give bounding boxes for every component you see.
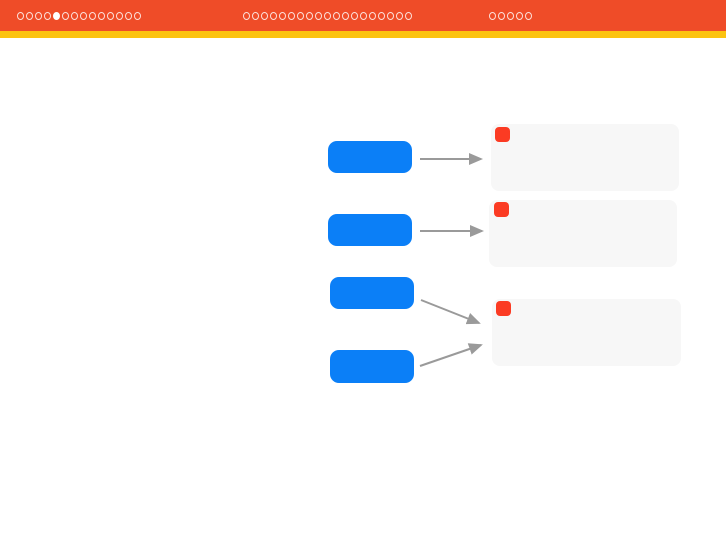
redacted-text-glyph xyxy=(243,12,250,20)
redacted-text-glyph xyxy=(351,12,358,20)
redacted-text-glyph xyxy=(62,12,69,20)
redacted-text-glyph xyxy=(387,12,394,20)
redacted-text-glyph xyxy=(396,12,403,20)
redacted-text-glyph xyxy=(98,12,105,20)
redacted-text-glyph xyxy=(252,12,259,20)
redacted-text-glyph xyxy=(333,12,340,20)
redacted-text-glyph xyxy=(35,12,42,20)
redacted-text-glyph xyxy=(107,12,114,20)
redacted-text-glyph xyxy=(116,12,123,20)
redacted-text-glyph xyxy=(80,12,87,20)
panel-badge-2[interactable] xyxy=(494,202,509,217)
redacted-text-glyph xyxy=(360,12,367,20)
redacted-text-glyph xyxy=(270,12,277,20)
redacted-text-glyph xyxy=(525,12,532,20)
detail-panel-1[interactable] xyxy=(491,124,679,191)
redacted-text-glyph xyxy=(53,12,60,20)
node-button-1[interactable] xyxy=(328,141,412,173)
redacted-text-glyph xyxy=(342,12,349,20)
redacted-text-glyph xyxy=(89,12,96,20)
redacted-text-glyph xyxy=(369,12,376,20)
redacted-text-glyph xyxy=(17,12,24,20)
redacted-text-glyph xyxy=(134,12,141,20)
redacted-text-glyph xyxy=(405,12,412,20)
detail-panel-3[interactable] xyxy=(492,299,681,366)
panel-badge-3[interactable] xyxy=(496,301,511,316)
header-action-group-right[interactable] xyxy=(489,0,532,31)
connector-arrow-4 xyxy=(420,345,481,366)
redacted-text-glyph xyxy=(324,12,331,20)
detail-panel-2[interactable] xyxy=(489,200,677,267)
redacted-text-glyph xyxy=(71,12,78,20)
node-button-4[interactable] xyxy=(330,350,414,383)
redacted-text-glyph xyxy=(279,12,286,20)
redacted-text-glyph xyxy=(26,12,33,20)
redacted-text-glyph xyxy=(378,12,385,20)
redacted-text-glyph xyxy=(498,12,505,20)
redacted-text-glyph xyxy=(288,12,295,20)
redacted-text-glyph xyxy=(315,12,322,20)
diagram-canvas xyxy=(0,38,726,544)
node-button-3[interactable] xyxy=(330,277,414,309)
redacted-text-glyph xyxy=(125,12,132,20)
redacted-text-glyph xyxy=(516,12,523,20)
redacted-text-glyph xyxy=(489,12,496,20)
redacted-text-glyph xyxy=(261,12,268,20)
redacted-text-glyph xyxy=(507,12,514,20)
header-title-group-left[interactable] xyxy=(17,0,141,31)
redacted-text-glyph xyxy=(44,12,51,20)
panel-badge-1[interactable] xyxy=(495,127,510,142)
header-nav-group-center[interactable] xyxy=(243,0,412,31)
node-button-2[interactable] xyxy=(328,214,412,246)
connector-arrow-3 xyxy=(421,300,479,323)
redacted-text-glyph xyxy=(297,12,304,20)
redacted-text-glyph xyxy=(306,12,313,20)
header-accent-bar xyxy=(0,31,726,38)
